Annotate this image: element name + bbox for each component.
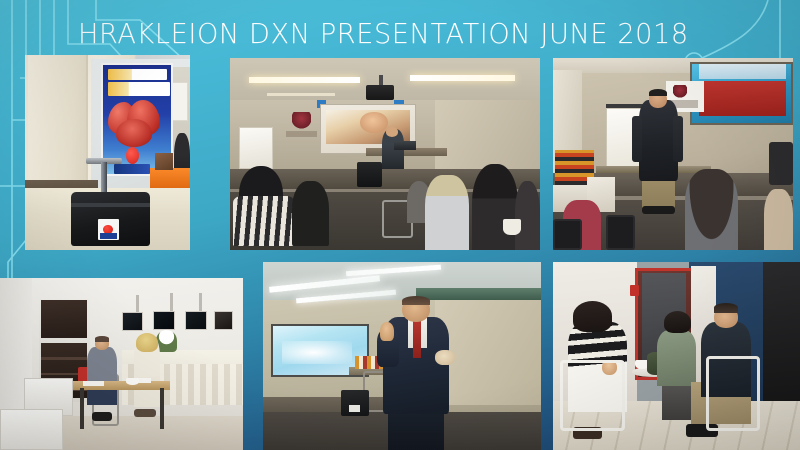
standing-woman-hair — [136, 333, 158, 352]
slide-title: HRAKLEION DXN PRESENTATION JUNE 2018 — [78, 16, 718, 52]
speaker-head — [386, 127, 398, 137]
presenter-left-arm — [632, 116, 642, 162]
man-hair — [714, 303, 739, 312]
woman-1-hair — [573, 301, 613, 331]
hotel-logo-text — [286, 131, 317, 137]
seated-man-shoe — [92, 412, 111, 421]
projected-slide-header — [699, 64, 785, 79]
poster-brand-text — [114, 164, 150, 174]
hotel-logo — [673, 85, 687, 98]
photo-attendees-seated-lounge — [553, 262, 800, 450]
laptop — [394, 141, 416, 151]
orange-counter — [150, 168, 190, 188]
green-wall-band — [416, 288, 541, 299]
photo-registration-desk — [0, 278, 243, 450]
coffee-cup — [126, 378, 138, 385]
projected-slide-red-panel — [699, 81, 785, 116]
speaker-red-tie — [413, 320, 421, 358]
audience-member — [472, 164, 519, 250]
ceiling-light — [249, 77, 361, 83]
presenter-hair — [649, 89, 667, 97]
photo-conference-room-audience-wide — [230, 58, 540, 250]
audience-chair — [553, 219, 582, 250]
bag-zipper-seam — [71, 203, 150, 207]
registration-paper — [83, 381, 105, 386]
framed-photo — [214, 311, 233, 330]
ceiling-light — [267, 93, 335, 97]
woman-2-hair — [664, 311, 691, 334]
photo-6-scene — [553, 262, 800, 450]
framed-photo — [185, 311, 207, 330]
screen-glare — [282, 341, 352, 364]
flipchart — [239, 127, 273, 169]
flyer — [172, 82, 189, 121]
audience-member — [764, 189, 793, 250]
fire-extinguisher-sign — [630, 285, 640, 296]
presenter-right-arm — [673, 116, 683, 162]
presentation-slide: HRAKLEION DXN PRESENTATION JUNE 2018 — [0, 0, 800, 450]
seated-man — [87, 347, 116, 405]
dxn-logo-wordmark — [100, 233, 117, 239]
audience-chair — [606, 215, 635, 250]
white-chair — [560, 360, 624, 431]
speaker-other-hand — [435, 350, 454, 365]
coffee-cup — [503, 219, 522, 234]
table-leg — [80, 388, 84, 429]
equipment-case — [769, 142, 793, 184]
dark-corridor — [763, 262, 800, 416]
drawer-line — [41, 357, 87, 360]
thumbs-up-hand — [380, 322, 394, 341]
audience-member — [425, 175, 468, 250]
poster-logo-circle — [126, 147, 139, 165]
framed-photo — [122, 312, 144, 331]
photo-suited-speaker-thumbs-up — [263, 262, 541, 450]
ganoderma-mushroom — [116, 119, 152, 146]
audience-member — [292, 181, 329, 246]
ceiling-light — [410, 75, 515, 81]
wooden-box — [155, 153, 173, 171]
hotel-logo — [292, 112, 311, 129]
photo-5-scene — [263, 262, 541, 450]
speaker-cabinet — [357, 162, 382, 187]
seated-man-hair — [95, 336, 110, 341]
audience-member — [515, 181, 540, 250]
photo-dxn-trolley-bag-and-poster — [25, 55, 190, 250]
woman-2-body — [657, 330, 697, 386]
audience-member — [685, 169, 738, 250]
pendant-lamp — [170, 293, 172, 312]
white-planter-box — [0, 409, 63, 450]
pendant-lamp — [199, 293, 201, 312]
case-logo-label — [349, 405, 360, 413]
photo-1-scene — [25, 55, 190, 250]
speaker-hair — [402, 296, 430, 305]
audience-member — [233, 196, 295, 246]
standing-woman-shoe — [134, 409, 156, 418]
table-leg — [160, 388, 164, 429]
photo-4-scene — [0, 278, 243, 450]
poster-headline-line-1 — [108, 69, 167, 81]
slide-portrait — [360, 112, 388, 133]
side-wall — [435, 288, 541, 405]
photo-standing-presenter-stage — [553, 58, 793, 250]
photo-2-scene — [230, 58, 540, 250]
photo-3-scene — [553, 58, 793, 250]
dxn-logo-label — [98, 219, 119, 240]
dark-wall-cabinet — [41, 300, 87, 338]
framed-photo — [153, 311, 175, 330]
poster-headline-line-2 — [108, 82, 171, 96]
ceiling-projector — [366, 85, 394, 100]
white-chair — [706, 356, 760, 431]
presenter-shoes — [642, 206, 676, 214]
pendant-lamp — [136, 295, 138, 312]
